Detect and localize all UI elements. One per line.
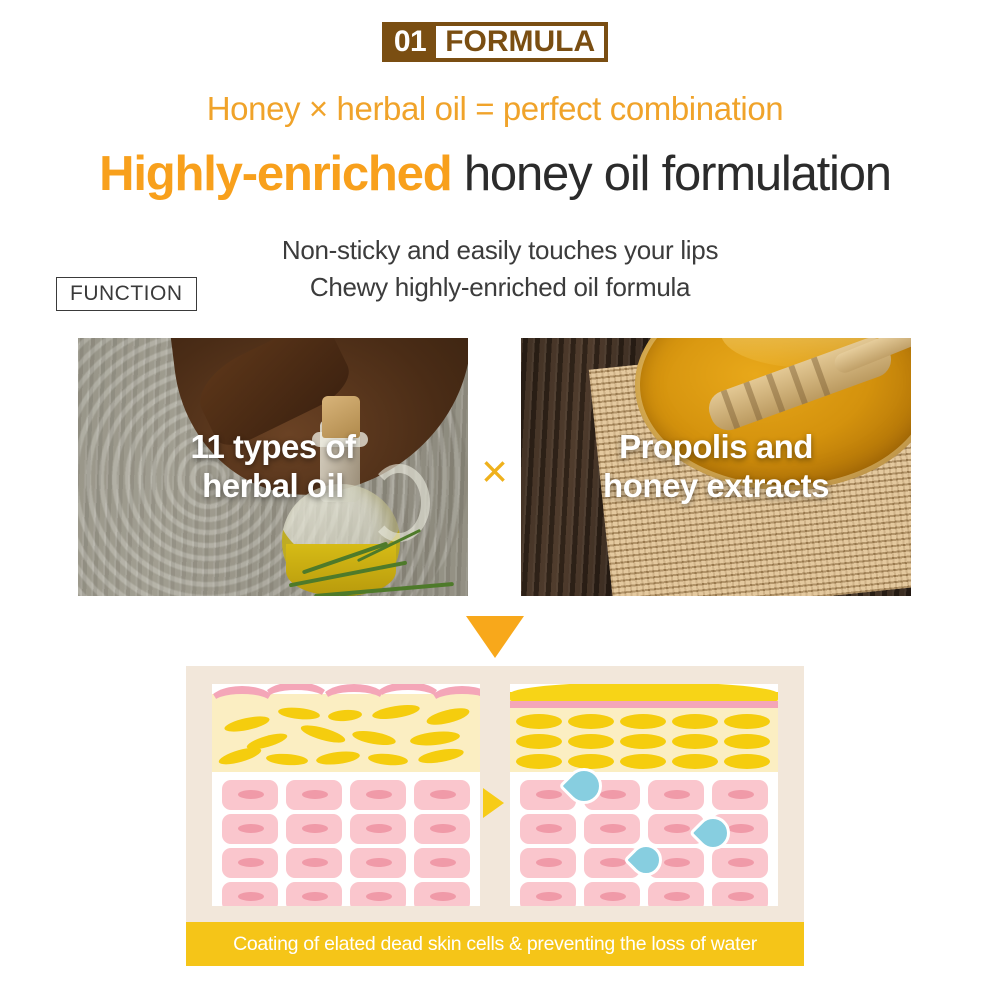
section-badge: 01 FORMULA: [0, 22, 990, 62]
headline-rest: honey oil formulation: [464, 147, 891, 201]
photo-caption-right-line-2: honey extracts: [521, 467, 911, 506]
subheadline: Honey × herbal oil = perfect combination: [0, 90, 990, 128]
rosemary-sprigs: [284, 526, 468, 596]
diagram-caption: Coating of elated dead skin cells & prev…: [186, 922, 804, 966]
photo-herbal-oil: 11 types of herbal oil: [78, 338, 468, 596]
multiply-icon: ×: [468, 448, 521, 494]
arrow-right-icon: [483, 788, 504, 818]
arrow-down-icon: [466, 616, 524, 658]
body-copy-line-1: Non-sticky and easily touches your lips: [150, 232, 850, 269]
skin-diagram-graphics: [186, 666, 804, 922]
photo-caption-left-line-2: herbal oil: [78, 467, 468, 506]
oil-coating-layer: [510, 692, 778, 701]
body-copy-line-2: Chewy highly-enriched oil formula: [150, 269, 850, 306]
badge-word: FORMULA: [436, 26, 604, 58]
headline-highlight: Highly-enriched: [99, 147, 451, 201]
page-title: Highly-enriched honey oil formulation: [0, 146, 990, 202]
photo-caption-left-line-1: 11 types of: [78, 428, 468, 467]
surface-pink-band: [510, 701, 778, 708]
skin-diagram-before: [212, 684, 480, 906]
photo-caption-left: 11 types of herbal oil: [78, 428, 468, 506]
photo-caption-right: Propolis and honey extracts: [521, 428, 911, 506]
photo-honey: Propolis and honey extracts: [521, 338, 911, 596]
body-copy: Non-sticky and easily touches your lips …: [150, 232, 850, 306]
infographic-page: 01 FORMULA Honey × herbal oil = perfect …: [0, 0, 990, 1000]
formula-badge: 01 FORMULA: [382, 22, 608, 62]
skin-diagram-after: [510, 684, 778, 906]
badge-number: 01: [382, 22, 436, 62]
photo-caption-right-line-1: Propolis and: [521, 428, 911, 467]
skin-diagram-panel: Coating of elated dead skin cells & prev…: [186, 666, 804, 966]
